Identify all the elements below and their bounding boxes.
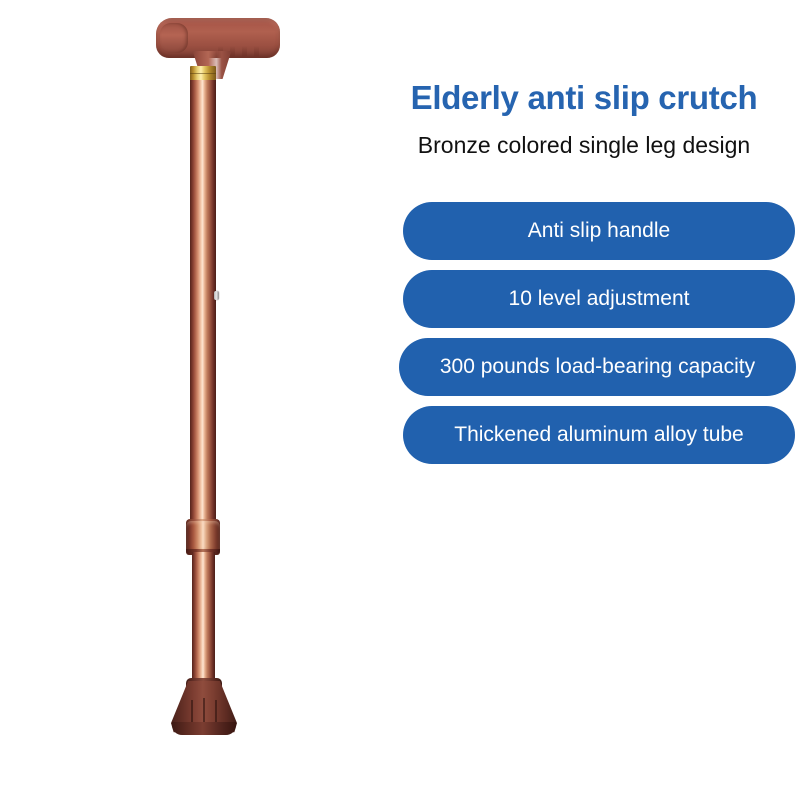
finger-groove-icon <box>242 46 247 58</box>
feature-badge-aluminum-tube: Thickened aluminum alloy tube <box>403 406 795 464</box>
height-adjustment-pin <box>214 291 219 300</box>
feature-badge-label: Thickened aluminum alloy tube <box>454 423 744 447</box>
rubber-tip-base <box>172 722 236 735</box>
page-title: Elderly anti slip crutch <box>368 79 800 117</box>
handle-palm-pad <box>160 23 188 53</box>
page-subtitle: Bronze colored single leg design <box>368 131 800 159</box>
lower-shaft <box>192 552 215 690</box>
product-image-canvas: Elderly anti slip crutch Bronze colored … <box>0 0 800 800</box>
feature-badge-level-adjustment: 10 level adjustment <box>403 270 795 328</box>
finger-groove-icon <box>254 46 259 58</box>
feature-badge-label: Anti slip handle <box>528 219 670 243</box>
feature-badge-label: 300 pounds load-bearing capacity <box>440 355 755 379</box>
product-illustration <box>0 0 360 800</box>
feature-list: Anti slip handle 10 level adjustment 300… <box>360 202 800 474</box>
feature-badge-label: 10 level adjustment <box>509 287 690 311</box>
brass-ferrule-band <box>190 66 216 81</box>
t-handle <box>156 18 280 80</box>
feature-badge-load-capacity: 300 pounds load-bearing capacity <box>399 338 796 396</box>
marketing-panel: Elderly anti slip crutch Bronze colored … <box>360 0 800 800</box>
feature-badge-anti-slip-handle: Anti slip handle <box>403 202 795 260</box>
upper-shaft <box>190 80 216 526</box>
